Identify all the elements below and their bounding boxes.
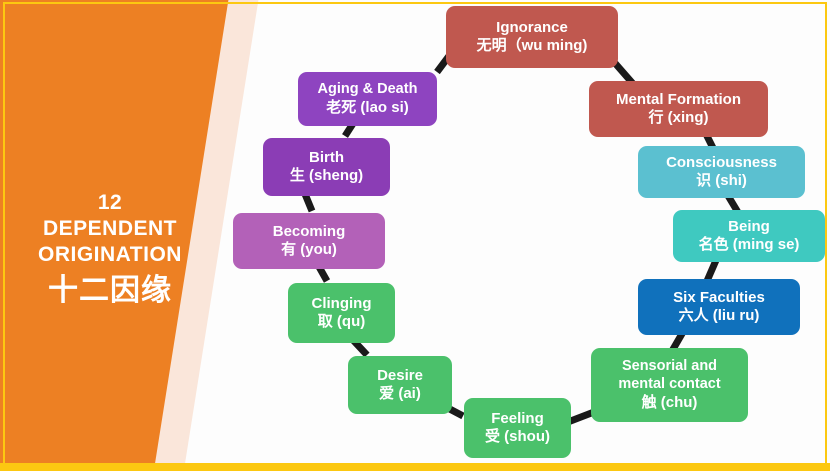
- node-conscious[interactable]: Consciousness识 (shi): [638, 146, 805, 198]
- title-chinese: 十二因缘: [10, 272, 210, 310]
- node-label-en: Feeling: [491, 410, 544, 428]
- title-line-origination: ORIGINATION: [10, 242, 210, 268]
- node-label-cn: 六人 (liu ru): [679, 307, 760, 325]
- node-label-cn: 行 (xing): [649, 109, 709, 127]
- node-label-cn: 识 (shi): [696, 172, 747, 190]
- node-label-en: Six Faculties: [673, 289, 765, 307]
- node-contact[interactable]: Sensorial and mental contact触 (chu): [591, 348, 748, 422]
- node-label-cn: 触 (chu): [642, 394, 698, 412]
- node-label-cn: 生 (sheng): [290, 167, 363, 185]
- node-label-cn: 无明（wu ming): [477, 37, 588, 55]
- node-label-cn: 老死 (lao si): [326, 99, 409, 117]
- node-label-en: Consciousness: [666, 154, 777, 172]
- node-label-cn: 爱 (ai): [379, 385, 421, 403]
- node-label-en: Becoming: [273, 223, 346, 241]
- node-desire[interactable]: Desire爱 (ai): [348, 356, 452, 414]
- node-label-en: Mental Formation: [616, 91, 741, 109]
- node-clinging[interactable]: Clinging取 (qu): [288, 283, 395, 343]
- node-becoming[interactable]: Becoming有 (you): [233, 213, 385, 269]
- node-six[interactable]: Six Faculties六人 (liu ru): [638, 279, 800, 335]
- slide-title: 12 DEPENDENT ORIGINATION 十二因缘: [10, 190, 210, 310]
- node-label-en: Being: [728, 218, 770, 236]
- node-mental[interactable]: Mental Formation行 (xing): [589, 81, 768, 137]
- title-line-dependent: DEPENDENT: [10, 216, 210, 242]
- node-feeling[interactable]: Feeling受 (shou): [464, 398, 571, 458]
- node-label-cn: 受 (shou): [485, 428, 550, 446]
- node-label-cn: 有 (you): [281, 241, 337, 259]
- node-label-en: Ignorance: [496, 19, 568, 37]
- node-ignorance[interactable]: Ignorance无明（wu ming): [446, 6, 618, 68]
- bottom-accent-bar: [0, 463, 830, 471]
- node-label-en: Aging & Death: [318, 81, 418, 99]
- title-line-number: 12: [10, 190, 210, 216]
- slide-canvas: 12 DEPENDENT ORIGINATION 十二因缘 Ignorance无…: [0, 0, 830, 471]
- node-label-cn: 取 (qu): [318, 313, 365, 331]
- node-label-en: Sensorial and mental contact: [599, 358, 740, 393]
- node-label-en: Desire: [377, 367, 423, 385]
- node-label-cn: 名色 (ming se): [699, 236, 800, 254]
- node-label-en: Clinging: [312, 295, 372, 313]
- node-aging[interactable]: Aging & Death老死 (lao si): [298, 72, 437, 126]
- node-label-en: Birth: [309, 149, 344, 167]
- node-being[interactable]: Being名色 (ming se): [673, 210, 825, 262]
- node-birth[interactable]: Birth生 (sheng): [263, 138, 390, 196]
